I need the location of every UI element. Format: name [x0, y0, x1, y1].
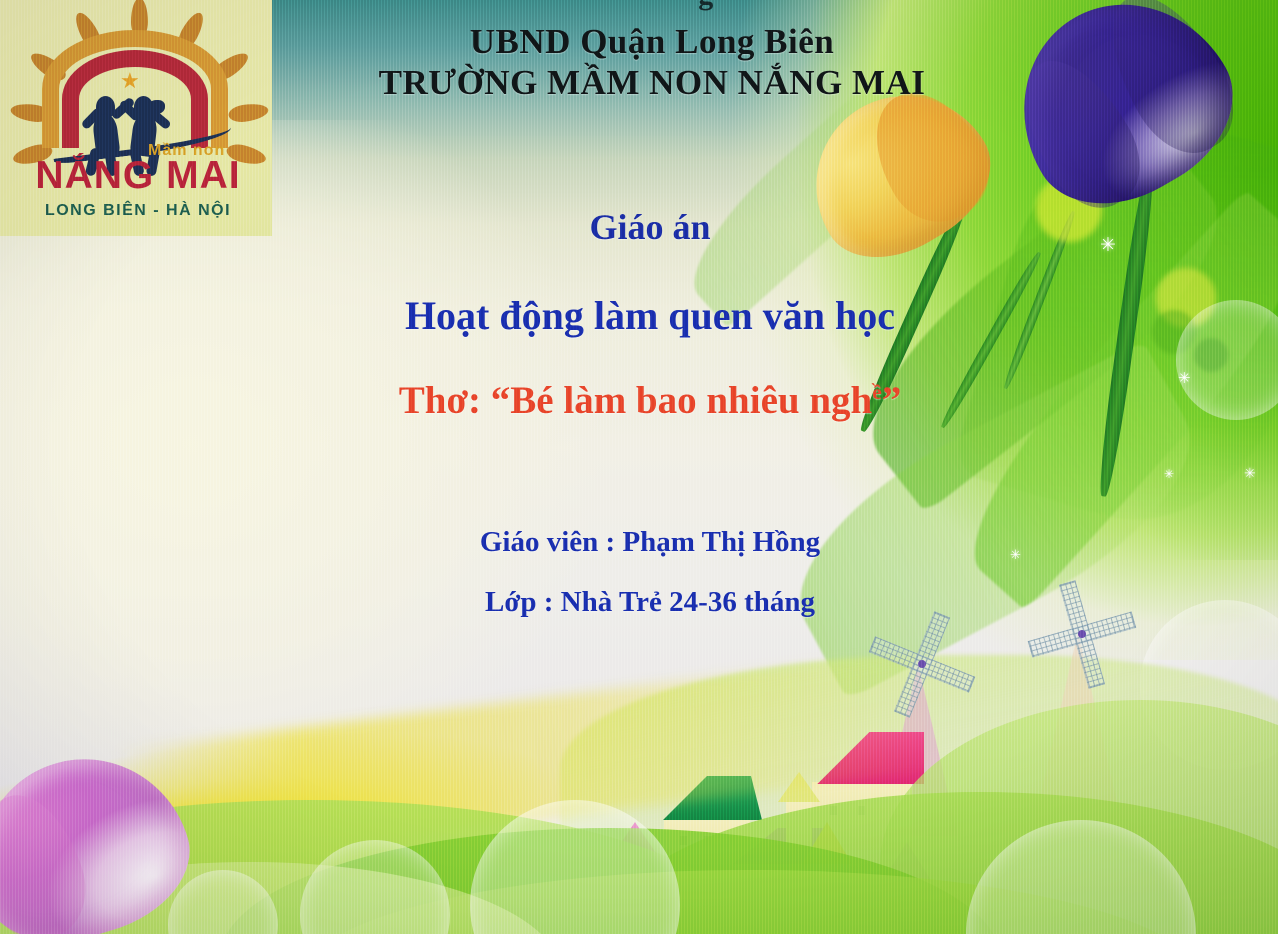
- presentation-slide: ✳ ✳ ✳ ✳ ✳: [0, 0, 1278, 934]
- title-activity: Hoạt động làm quen văn học: [250, 292, 1050, 339]
- daisy-flower-icon: ✳: [1100, 236, 1116, 255]
- school-logo: ★ Mầm non NẮNG MAI LONG BIÊN - HÀ NỘI: [0, 0, 272, 236]
- logo-location: LONG BIÊN - HÀ NỘI: [14, 202, 262, 220]
- windmill-icon: [1080, 632, 1084, 636]
- daisy-flower-icon: ✳: [1010, 548, 1021, 561]
- logo-school-name: NẮNG MAI: [14, 156, 262, 195]
- daisy-flower-icon: ✳: [1164, 468, 1174, 480]
- teacher-name: Giáo viên : Phạm Thị Hồng: [330, 526, 970, 559]
- title-poem-superscript: ề: [872, 380, 882, 404]
- header-line-school: TRƯỜNG MẦM NON NẮNG MAI: [272, 63, 1032, 104]
- daisy-flower-icon: ✳: [1244, 468, 1256, 482]
- title-poem: Thơ: “Bé làm bao nhiêu nghề”: [230, 378, 1070, 423]
- title-poem-suffix: ”: [882, 379, 902, 422]
- title-lesson-plan: Giáo án: [390, 206, 910, 248]
- slide-header: UBND Quận Long Biên TRƯỜNG MẦM NON NẮNG …: [272, 22, 1032, 103]
- class-name: Lớp : Nhà Trẻ 24-36 tháng: [330, 586, 970, 619]
- logo-star-icon: ★: [120, 70, 140, 92]
- cropped-text-above: g: [556, 0, 856, 12]
- header-line-district: UBND Quận Long Biên: [272, 22, 1032, 63]
- title-poem-prefix: Thơ: “Bé làm bao nhiêu ngh: [399, 379, 872, 422]
- daisy-flower-icon: ✳: [1178, 372, 1191, 387]
